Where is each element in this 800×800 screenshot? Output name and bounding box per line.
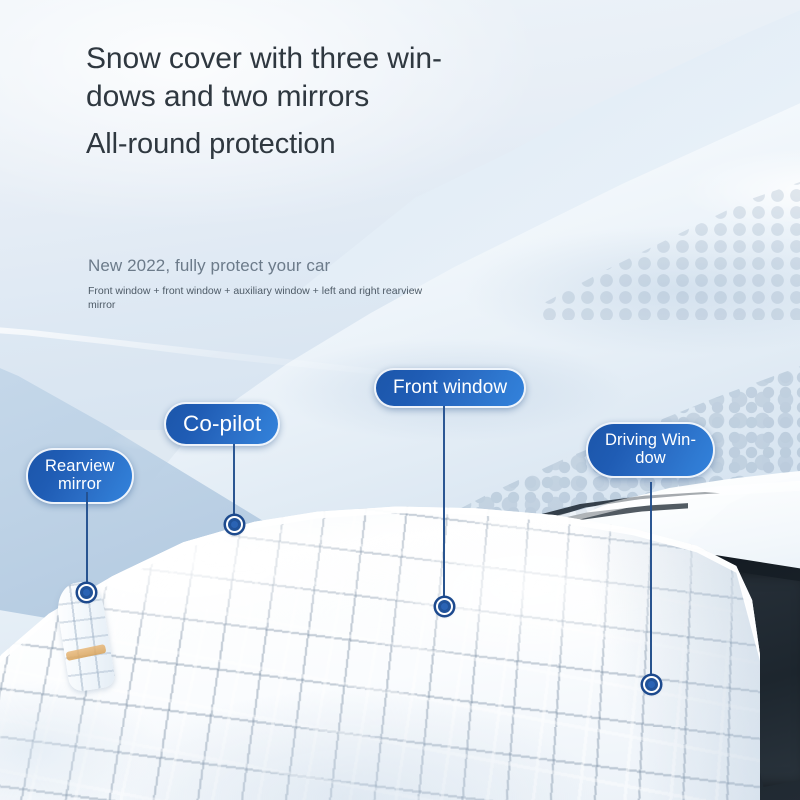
callout-rearview-mirror-label[interactable]: Rearview mirror (26, 448, 134, 504)
callout-rearview-mirror[interactable]: Rearview mirror (26, 448, 134, 504)
marker-driving-window[interactable] (643, 676, 660, 693)
product-marketing-image: Snow cover with three win- dows and two … (0, 0, 800, 800)
tagline: New 2022, fully protect your car (88, 256, 330, 276)
page-subtitle: All-round protection (86, 128, 335, 161)
callout-co-pilot-label[interactable]: Co-pilot (164, 402, 280, 446)
callout-driving-window[interactable]: Driving Win- dow (586, 422, 715, 478)
marker-front-window[interactable] (436, 598, 453, 615)
marker-rearview-mirror[interactable] (78, 584, 95, 601)
feature-list-text: Front window + front window + auxiliary … (88, 285, 448, 313)
callout-front-window[interactable]: Front window (374, 368, 526, 408)
page-title: Snow cover with three win- dows and two … (86, 40, 442, 117)
leader-line-front-window (443, 406, 445, 602)
callout-co-pilot[interactable]: Co-pilot (164, 402, 280, 446)
callout-front-window-label[interactable]: Front window (374, 368, 526, 408)
marker-co-pilot[interactable] (226, 516, 243, 533)
callout-driving-window-label[interactable]: Driving Win- dow (586, 422, 715, 478)
leader-line-driving-window (650, 482, 652, 682)
